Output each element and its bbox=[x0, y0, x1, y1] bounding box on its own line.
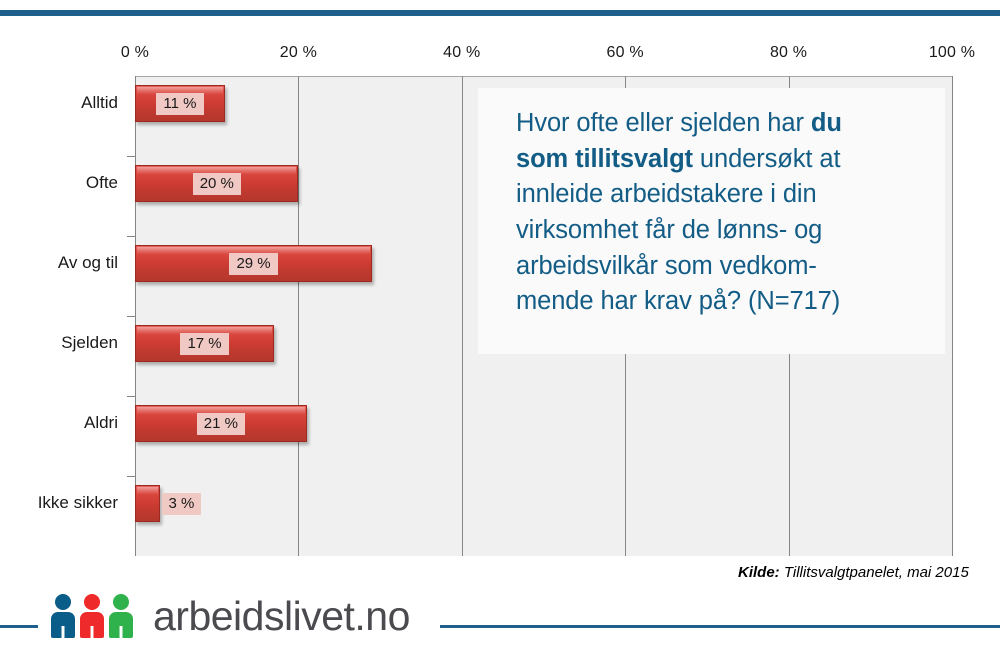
bar-5 bbox=[135, 485, 160, 522]
question-line-6: mende har krav på? (N=717) bbox=[516, 287, 840, 315]
question-line-2-plain: undersøkt at bbox=[693, 145, 841, 173]
y-category-label-0: Alltid bbox=[0, 93, 118, 113]
y-tick-2 bbox=[127, 316, 136, 317]
y-category-label-4: Aldri bbox=[0, 413, 118, 433]
y-tick-0 bbox=[127, 156, 136, 157]
y-tick-1 bbox=[127, 236, 136, 237]
gridline-40 bbox=[462, 76, 463, 556]
x-tick-label-40: 40 % bbox=[443, 44, 480, 62]
data-label-3: 17 % bbox=[180, 333, 228, 355]
question-line-3: innleide arbeidstakere i din bbox=[516, 180, 817, 208]
question-line-2-bold: som tillitsvalgt bbox=[516, 145, 693, 173]
x-tick-label-60: 60 % bbox=[607, 44, 644, 62]
question-line-4: virksomhet får de lønns- og bbox=[516, 216, 822, 244]
question-line-5: arbeidsvilkår som vedkom- bbox=[516, 252, 817, 280]
arbeidslivet-logo[interactable]: arbeidslivet.no bbox=[50, 588, 410, 644]
y-category-label-1: Ofte bbox=[0, 173, 118, 193]
x-tick-label-20: 20 % bbox=[280, 44, 317, 62]
bar-chart: 0 %20 %40 %60 %80 %100 % AlltidOfteAv og… bbox=[0, 16, 1000, 556]
person-figure-red-icon bbox=[79, 594, 105, 638]
data-label-0: 11 % bbox=[156, 93, 203, 115]
x-tick-label-0: 0 % bbox=[121, 44, 149, 62]
y-category-label-5: Ikke sikker bbox=[0, 493, 118, 513]
y-category-label-3: Sjelden bbox=[0, 333, 118, 353]
question-text: Hvor ofte eller sjelden har du som tilli… bbox=[516, 106, 919, 320]
data-label-2: 29 % bbox=[229, 253, 277, 275]
question-line-1-bold: du bbox=[811, 109, 842, 137]
question-line-1-plain: Hvor ofte eller sjelden har bbox=[516, 109, 811, 137]
footer-rule-right bbox=[440, 625, 1000, 628]
person-figure-green-icon bbox=[108, 594, 134, 638]
x-tick-label-80: 80 % bbox=[770, 44, 807, 62]
x-tick-label-100: 100 % bbox=[929, 44, 975, 62]
footer-rule-left bbox=[0, 625, 38, 628]
gridline-20 bbox=[298, 76, 299, 556]
person-figure-blue-icon bbox=[50, 594, 76, 638]
plot-top-border bbox=[135, 76, 953, 77]
data-label-5: 3 % bbox=[162, 493, 202, 515]
data-label-4: 21 % bbox=[197, 413, 245, 435]
source-label: Kilde: bbox=[738, 564, 780, 581]
y-tick-3 bbox=[127, 396, 136, 397]
bar-highlight bbox=[137, 487, 158, 494]
logo-wordmark: arbeidslivet.no bbox=[153, 593, 410, 640]
data-label-1: 20 % bbox=[193, 173, 241, 195]
gridline-100 bbox=[952, 76, 953, 556]
source-note: Kilde: Tillitsvalgtpanelet, mai 2015 bbox=[738, 562, 988, 583]
source-text: Tillitsvalgtpanelet, mai 2015 bbox=[780, 564, 969, 581]
y-tick-4 bbox=[127, 476, 136, 477]
question-callout-box: Hvor ofte eller sjelden har du som tilli… bbox=[478, 88, 945, 354]
y-category-label-2: Av og til bbox=[0, 253, 118, 273]
